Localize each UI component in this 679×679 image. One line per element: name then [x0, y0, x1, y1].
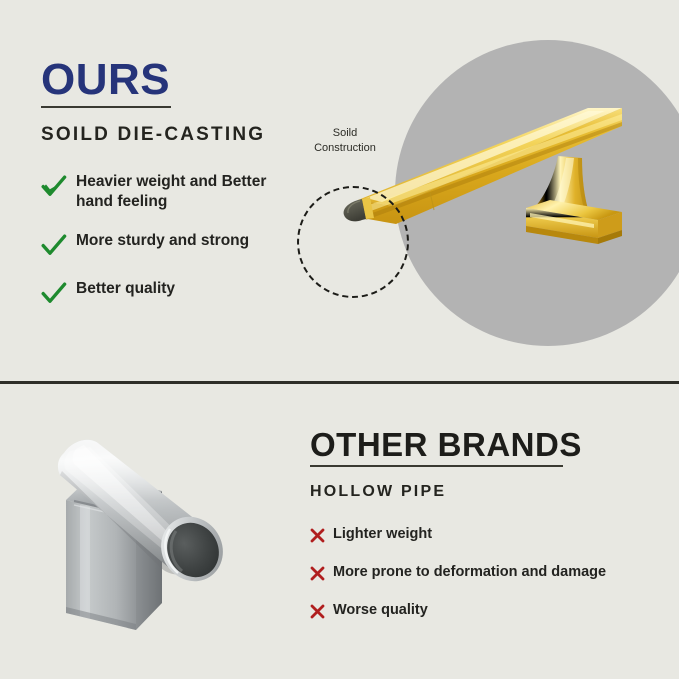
- other-brands-feature-list: Lighter weight More prone to deformation…: [310, 525, 655, 620]
- ours-title: OURS: [41, 58, 303, 102]
- section-divider: [0, 381, 679, 384]
- other-brands-title: OTHER BRANDS: [310, 428, 655, 461]
- cross-icon: [310, 604, 325, 619]
- list-item: Lighter weight: [310, 525, 655, 544]
- list-item-label: Better quality: [76, 279, 175, 299]
- check-icon: [41, 174, 67, 200]
- steel-handle-figure: [40, 425, 290, 660]
- other-brands-title-underline: [310, 465, 563, 467]
- list-item: Better quality: [41, 279, 303, 307]
- dashed-circle-annotation: [297, 186, 409, 298]
- check-icon: [41, 233, 67, 259]
- list-item: More sturdy and strong: [41, 231, 303, 259]
- ours-feature-list: Heavier weight and Better hand feeling M…: [41, 172, 303, 307]
- check-icon: [41, 281, 67, 307]
- cross-icon: [310, 566, 325, 581]
- list-item-label: Heavier weight and Better hand feeling: [76, 172, 303, 213]
- list-item-label: Lighter weight: [333, 525, 432, 544]
- list-item: Heavier weight and Better hand feeling: [41, 172, 303, 213]
- list-item: More prone to deformation and damage: [310, 563, 655, 582]
- ours-section: OURS SOILD DIE-CASTING Heavier weight an…: [41, 58, 303, 325]
- list-item-label: More sturdy and strong: [76, 231, 249, 251]
- other-brands-section: OTHER BRANDS HOLLOW PIPE Lighter weight: [310, 428, 655, 638]
- stainless-hollow-pipe-handle-image: [40, 425, 290, 665]
- ours-subtitle: SOILD DIE-CASTING: [41, 124, 303, 146]
- list-item-label: Worse quality: [333, 601, 428, 620]
- list-item-label: More prone to deformation and damage: [333, 563, 606, 582]
- other-brands-subtitle: HOLLOW PIPE: [310, 483, 655, 501]
- ours-title-underline: [41, 106, 171, 108]
- cross-icon: [310, 528, 325, 543]
- comparison-infographic: OURS SOILD DIE-CASTING Heavier weight an…: [0, 0, 679, 679]
- list-item: Worse quality: [310, 601, 655, 620]
- gold-handle-figure: Soild Construction: [352, 22, 679, 362]
